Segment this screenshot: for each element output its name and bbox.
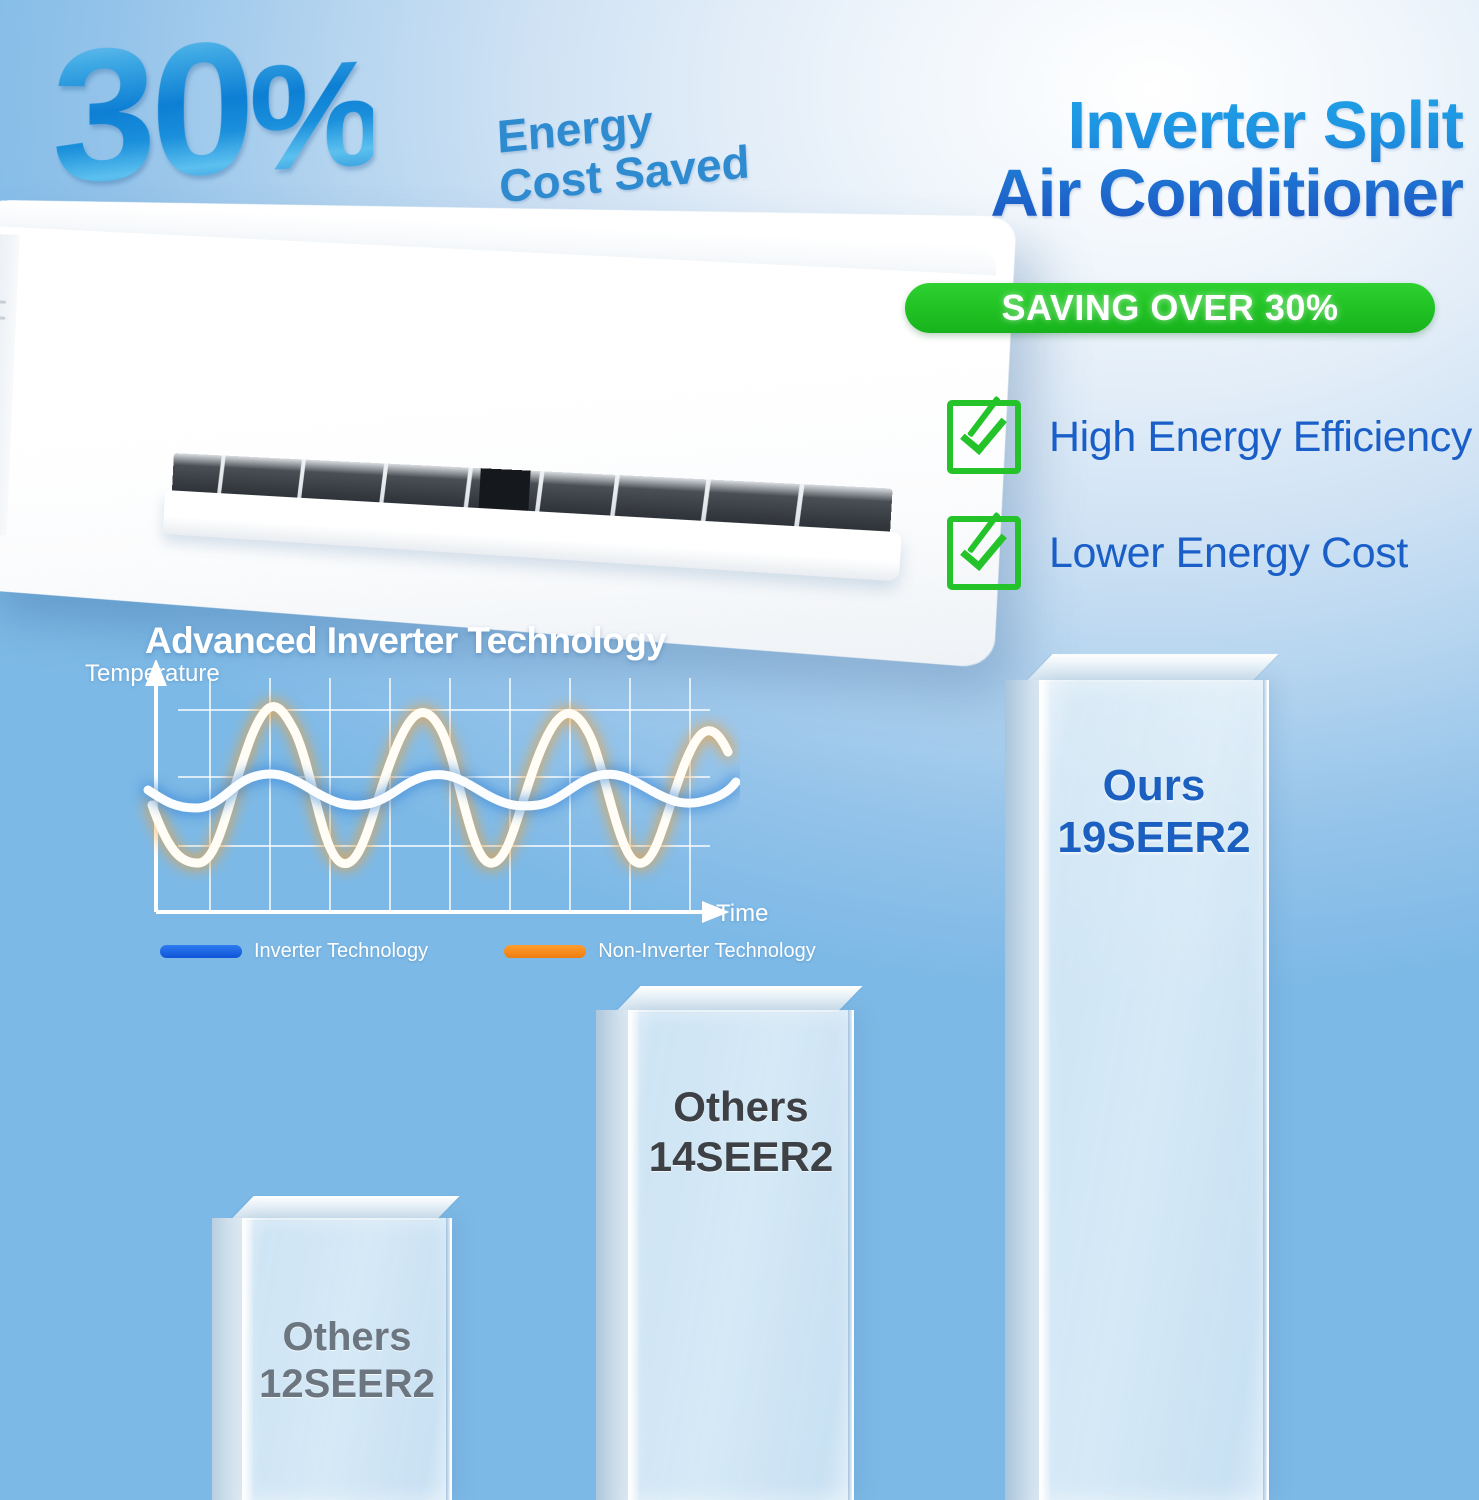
bar-rating: 12SEER2 bbox=[259, 1361, 435, 1408]
bar-label: Others 14SEER2 bbox=[649, 1082, 833, 1181]
inverter-ac-promo-poster: 30% Energy Cost Saved Inverter Split Air… bbox=[0, 0, 1479, 1500]
bar-side-face bbox=[596, 1010, 630, 1500]
saving-banner: SAVING OVER 30% bbox=[905, 283, 1435, 333]
hero-percent-symbol: % bbox=[249, 28, 372, 203]
saving-banner-label: SAVING OVER 30% bbox=[1002, 287, 1339, 329]
legend-swatch-non-inverter bbox=[504, 945, 586, 958]
legend-swatch-inverter bbox=[160, 945, 242, 958]
bar-label: Ours 19SEER2 bbox=[1057, 760, 1250, 864]
chart-legend: Inverter Technology Non-Inverter Technol… bbox=[160, 940, 816, 963]
bar-top-face bbox=[615, 986, 862, 1012]
bar-top-face bbox=[230, 1196, 459, 1220]
feature-item-lower-energy-cost: Lower Energy Cost bbox=[947, 516, 1408, 590]
chart-title: Advanced Inverter Technology bbox=[145, 620, 666, 662]
bar-front-face: Others 12SEER2 bbox=[242, 1218, 452, 1500]
title-line-2: Air Conditioner bbox=[843, 160, 1463, 228]
bar-label: Others 12SEER2 bbox=[259, 1314, 435, 1408]
bar-brand: Others bbox=[649, 1082, 833, 1132]
checkbox-checked-icon bbox=[947, 400, 1021, 474]
page-title: Inverter Split Air Conditioner bbox=[843, 92, 1463, 229]
hero-30-percent: 30% bbox=[52, 5, 373, 211]
bar-rating: 14SEER2 bbox=[649, 1132, 833, 1182]
air-conditioner-unit bbox=[0, 200, 896, 590]
legend-item-inverter: Inverter Technology bbox=[160, 940, 428, 963]
hero-percent-number: 30 bbox=[52, 1, 249, 222]
ac-body bbox=[0, 200, 1017, 669]
title-line-1: Inverter Split bbox=[843, 92, 1463, 160]
bar-front-face: Others 14SEER2 bbox=[628, 1010, 854, 1500]
inverter-temperature-chart bbox=[80, 660, 740, 935]
legend-label-non-inverter: Non-Inverter Technology bbox=[598, 940, 816, 963]
bar-top-face bbox=[1025, 654, 1278, 682]
feature-label: Lower Energy Cost bbox=[1049, 529, 1408, 578]
feature-label: High Energy Efficiency bbox=[1049, 413, 1472, 462]
hero-subline: Energy Cost Saved bbox=[496, 87, 751, 211]
bar-side-face bbox=[212, 1218, 244, 1500]
bar-rating: 19SEER2 bbox=[1057, 812, 1250, 864]
checkbox-checked-icon bbox=[947, 516, 1021, 590]
bar-front-face: Ours 19SEER2 bbox=[1039, 680, 1269, 1500]
legend-item-non-inverter: Non-Inverter Technology bbox=[504, 940, 816, 963]
bar-brand: Ours bbox=[1057, 760, 1250, 812]
bar-side-face bbox=[1005, 680, 1041, 1500]
bar-brand: Others bbox=[259, 1314, 435, 1361]
legend-label-inverter: Inverter Technology bbox=[254, 940, 428, 963]
feature-item-high-energy-efficiency: High Energy Efficiency bbox=[947, 400, 1472, 474]
